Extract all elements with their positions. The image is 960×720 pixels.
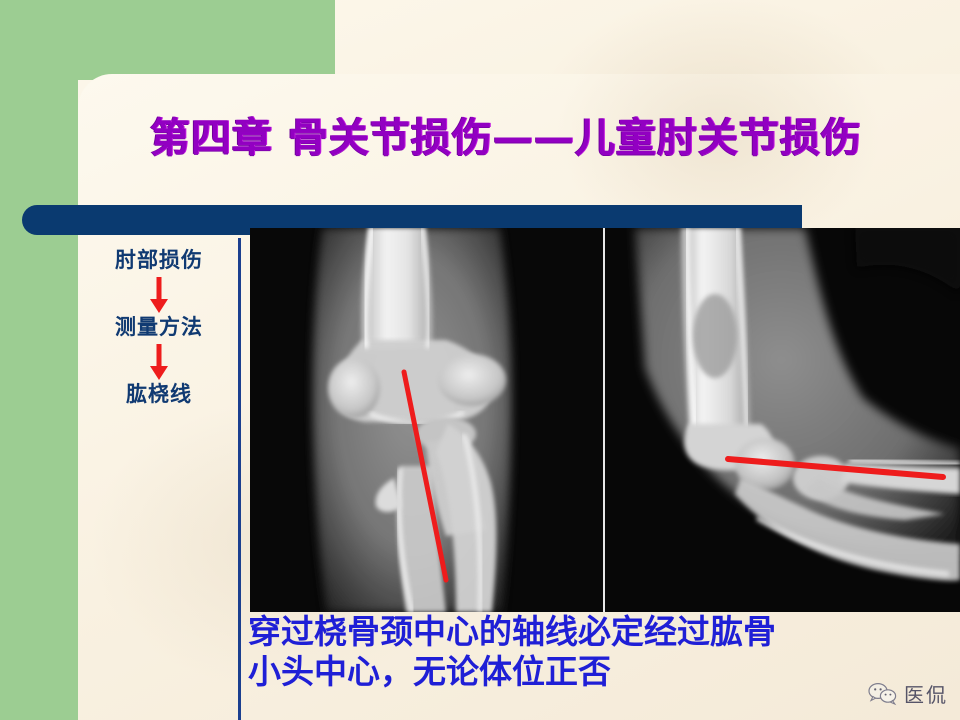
sidebar-item-radiocapitellar-line[interactable]: 肱桡线 <box>84 384 234 405</box>
presentation-slide: 第四章 骨关节损伤——儿童肘关节损伤 肘部损伤 测量方法 肱桡线 <box>0 0 960 720</box>
sidebar-flow: 肘部损伤 测量方法 肱桡线 <box>84 250 234 405</box>
green-top-band <box>0 0 335 80</box>
watermark: 医侃 <box>868 679 948 708</box>
sidebar-item-measurement-method[interactable]: 测量方法 <box>84 317 234 338</box>
caption-line-2: 小头中心，无论体位正否 <box>248 652 948 692</box>
page-title: 第四章 骨关节损伤——儿童肘关节损伤 <box>86 116 926 160</box>
elbow-ap-radiograph <box>250 228 603 612</box>
green-left-band <box>0 0 78 720</box>
arrow-down-icon <box>84 271 234 317</box>
watermark-text: 医侃 <box>904 679 948 708</box>
wechat-icon <box>868 682 898 706</box>
elbow-lateral-radiograph <box>605 228 960 612</box>
radiograph-figure-group <box>250 228 960 612</box>
sidebar-item-elbow-injury[interactable]: 肘部损伤 <box>84 250 234 271</box>
arrow-down-icon <box>84 338 234 384</box>
caption-line-1: 穿过桡骨颈中心的轴线必定经过肱骨 <box>248 612 948 652</box>
figure-caption: 穿过桡骨颈中心的轴线必定经过肱骨 小头中心，无论体位正否 <box>248 612 948 693</box>
vertical-divider <box>238 238 241 720</box>
figure-divider <box>603 228 605 612</box>
